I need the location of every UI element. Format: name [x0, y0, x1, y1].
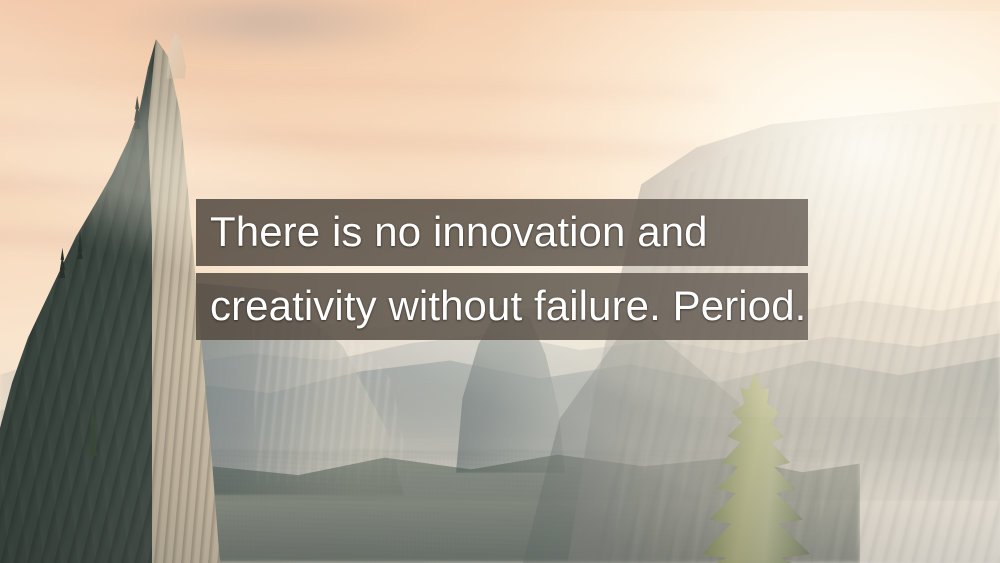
quote-overlay: There is no innovation and creativity wi… — [196, 199, 808, 340]
peak-summit-highlight — [164, 28, 188, 79]
quote-line-2: creativity without failure. Period. — [196, 273, 808, 340]
quote-line-1: There is no innovation and — [196, 199, 808, 266]
wallpaper-canvas: There is no innovation and creativity wi… — [0, 0, 1000, 563]
